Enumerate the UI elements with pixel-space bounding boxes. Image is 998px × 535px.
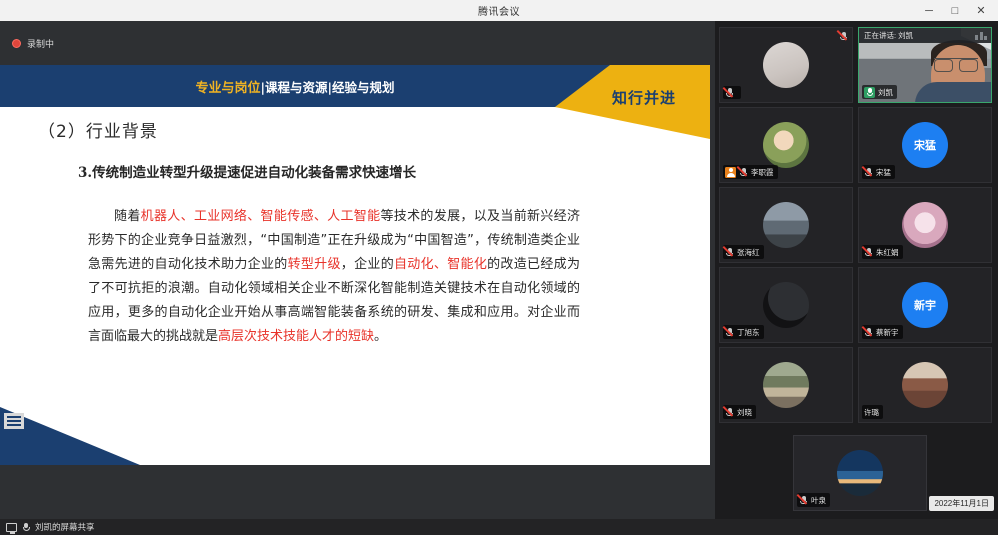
mic-muted-icon xyxy=(864,247,873,257)
window-titlebar: 腾讯会议 ─ □ ✕ xyxy=(0,0,998,21)
slide-nav-active: 专业与岗位 xyxy=(195,77,260,96)
presentation-slide: 专业与岗位 |课程与资源|经验与规划 知行并进 （2）行业背景 3.传统制造业转… xyxy=(0,65,710,465)
mic-muted-icon xyxy=(739,167,748,177)
participant-name: 刘晓 xyxy=(737,407,752,418)
mic-muted-icon xyxy=(839,31,848,41)
window-title: 腾讯会议 xyxy=(478,3,520,18)
date-badge: 2022年11月1日 xyxy=(929,496,994,511)
audio-wave-icon xyxy=(975,32,987,40)
participant-name: 宋猛 xyxy=(876,167,891,178)
slide-list-icon xyxy=(4,413,24,429)
participant-tile[interactable]: 朱红娟 xyxy=(858,187,992,263)
mic-muted-icon xyxy=(864,327,873,337)
avatar xyxy=(837,450,883,496)
slide-subheading: 3.传统制造业转型升级提速促进自动化装备需求快速增长 xyxy=(78,161,416,181)
mic-muted-icon xyxy=(799,495,808,505)
recording-label: 录制中 xyxy=(27,37,54,50)
para-red-4: 高层次技术技能人才的短缺 xyxy=(218,329,374,344)
mic-muted-icon xyxy=(864,167,873,177)
glasses-icon xyxy=(934,58,978,70)
participant-panel: 正在讲话: 刘凯 刘凯 李职霞 宋猛 xyxy=(715,21,998,519)
recording-bar: 录制中 xyxy=(0,21,715,65)
mic-muted-icon xyxy=(725,247,734,257)
para-red-3: 自动化、智能化 xyxy=(394,257,487,272)
self-view-tile[interactable]: 叶泉 xyxy=(793,435,927,511)
mic-muted-icon xyxy=(725,327,734,337)
speaking-label: 正在讲话: 刘凯 xyxy=(864,30,913,41)
para-seg-5: 。 xyxy=(374,329,387,344)
microphone-icon xyxy=(21,522,31,533)
window-controls: ─ □ ✕ xyxy=(916,0,994,21)
participant-namebar: 张海红 xyxy=(723,245,764,259)
shirt-shape xyxy=(915,82,992,103)
speaking-indicator-bar: 正在讲话: 刘凯 xyxy=(859,28,992,43)
para-red-2: 转型升级 xyxy=(288,257,341,272)
participant-tile[interactable]: 李职霞 xyxy=(719,107,853,183)
participant-tile[interactable]: 刘晓 xyxy=(719,347,853,423)
participant-name: 李职霞 xyxy=(751,167,774,178)
avatar-initials: 宋猛 xyxy=(902,122,948,168)
participant-namebar: 朱红娟 xyxy=(862,245,903,259)
participant-grid: 正在讲话: 刘凯 刘凯 李职霞 宋猛 xyxy=(719,27,992,423)
participant-namebar: 许璐 xyxy=(862,405,883,419)
participant-namebar: 刘凯 xyxy=(862,85,897,99)
shared-screen-stage: 录制中 专业与岗位 |课程与资源|经验与规划 知行并进 （2）行业背景 3.传统… xyxy=(0,21,715,519)
participant-namebar: 宋猛 xyxy=(862,165,895,179)
participant-name: 刘凯 xyxy=(878,87,893,98)
participant-namebar: 叶泉 xyxy=(797,493,830,507)
participant-tile[interactable] xyxy=(719,27,853,103)
mic-on-icon xyxy=(864,87,875,98)
para-seg-3: ，企业的 xyxy=(341,257,394,272)
participant-tile[interactable]: 许璐 xyxy=(858,347,992,423)
avatar xyxy=(902,362,948,408)
participant-namebar: 蔡新宇 xyxy=(862,325,903,339)
host-icon xyxy=(725,167,736,178)
screen-share-label: 刘凯的屏幕共享 xyxy=(35,521,95,533)
participant-tile-active-speaker[interactable]: 正在讲话: 刘凯 刘凯 xyxy=(858,27,992,103)
slide-brand-motto: 知行并进 xyxy=(612,87,676,108)
participant-name: 叶泉 xyxy=(811,495,826,506)
para-seg-1: 随着 xyxy=(114,209,141,224)
mic-muted-icon xyxy=(725,407,734,417)
slide-nav-text: 专业与岗位 |课程与资源|经验与规划 xyxy=(0,65,590,107)
screen-share-status[interactable]: 刘凯的屏幕共享 xyxy=(6,521,95,533)
participant-tile[interactable]: 新宇 蔡新宇 xyxy=(858,267,992,343)
avatar xyxy=(763,42,809,88)
participant-tile[interactable]: 宋猛 宋猛 xyxy=(858,107,992,183)
avatar xyxy=(902,202,948,248)
participant-name: 许璐 xyxy=(864,407,879,418)
para-red-1: 机器人、工业网络、智能传感、人工智能 xyxy=(141,209,381,224)
mic-muted-icon xyxy=(725,88,734,98)
avatar xyxy=(763,282,809,328)
slide-heading: （2）行业背景 xyxy=(38,117,158,142)
slide-nav-rest: |课程与资源|经验与规划 xyxy=(260,77,394,96)
participant-namebar: 刘晓 xyxy=(723,405,756,419)
status-bar: 刘凯的屏幕共享 xyxy=(0,519,998,535)
avatar-initials: 新宇 xyxy=(902,282,948,328)
maximize-button[interactable]: □ xyxy=(942,0,968,21)
record-dot-icon xyxy=(12,39,21,48)
participant-name: 朱红娟 xyxy=(876,247,899,258)
participant-tile[interactable]: 张海红 xyxy=(719,187,853,263)
close-button[interactable]: ✕ xyxy=(968,0,994,21)
slide-paragraph: 随着机器人、工业网络、智能传感、人工智能等技术的发展，以及当前新兴经济形势下的企… xyxy=(88,205,580,349)
participant-name: 丁旭东 xyxy=(737,327,760,338)
participant-namebar: 丁旭东 xyxy=(723,325,764,339)
participant-namebar xyxy=(723,86,741,99)
screen-share-icon xyxy=(6,523,17,532)
meeting-window: 腾讯会议 ─ □ ✕ 录制中 专业与岗位 |课程与资源|经验与规划 知行并进 xyxy=(0,0,998,535)
minimize-button[interactable]: ─ xyxy=(916,0,942,21)
recording-indicator: 录制中 xyxy=(12,37,54,50)
stage-filler xyxy=(0,465,715,519)
avatar xyxy=(763,362,809,408)
avatar xyxy=(763,202,809,248)
participant-name: 张海红 xyxy=(737,247,760,258)
avatar xyxy=(763,122,809,168)
participant-tile[interactable]: 丁旭东 xyxy=(719,267,853,343)
participant-name: 蔡新宇 xyxy=(876,327,899,338)
participant-namebar: 李职霞 xyxy=(723,165,778,179)
